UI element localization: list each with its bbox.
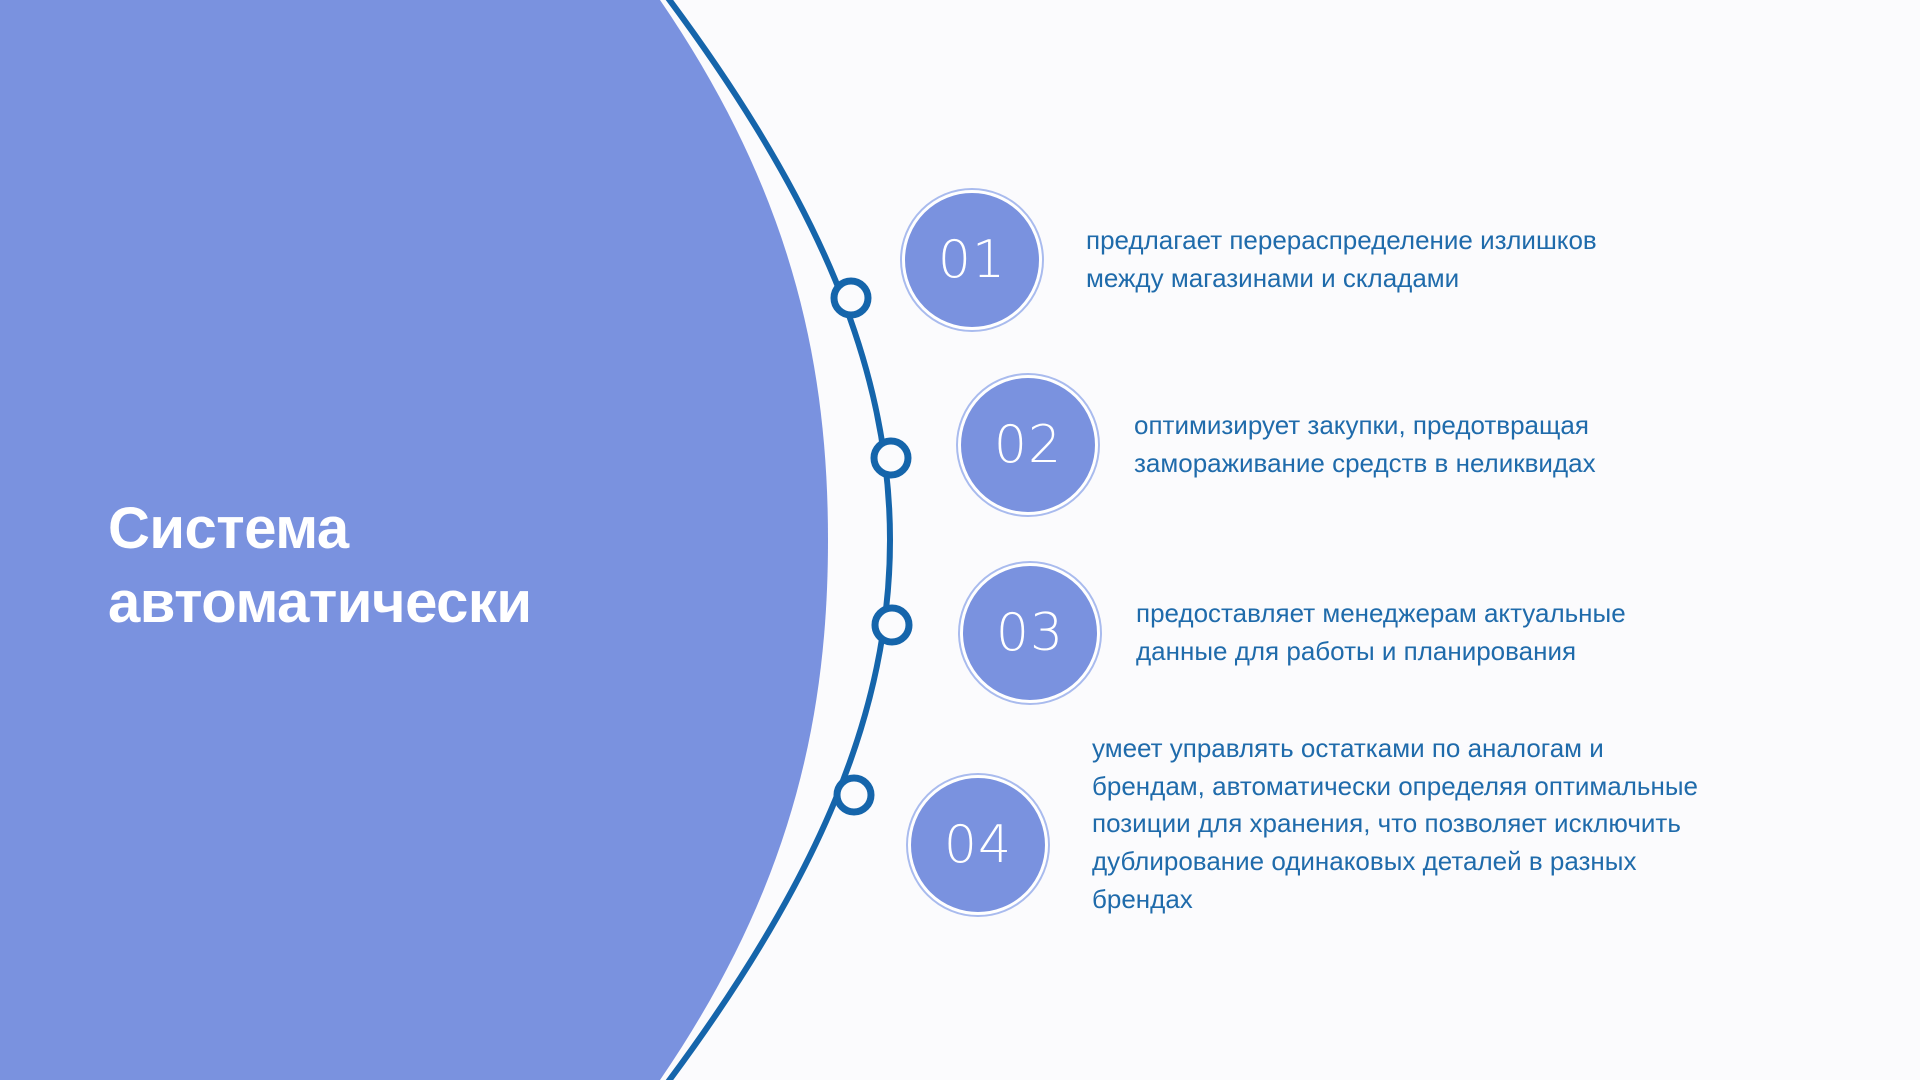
step-badge-03: 03	[960, 563, 1100, 703]
step-description: оптимизирует закупки, предотвращая замор…	[1134, 407, 1734, 482]
step-description: предоставляет менеджерам актуальные данн…	[1136, 595, 1736, 670]
step-number-label: 03	[996, 603, 1064, 663]
step-badge-01: 01	[902, 190, 1042, 330]
step-description: умеет управлять остатками по аналогам и …	[1092, 730, 1832, 918]
feature-list: 01 предлагает перераспределение излишков…	[0, 0, 1920, 1080]
step-number-label: 04	[944, 815, 1012, 875]
list-item: 03 предоставляет менеджерам актуальные д…	[960, 563, 1736, 703]
step-badge-04: 04	[908, 775, 1048, 915]
slide-canvas: Система автоматически 01 предлагает пере…	[0, 0, 1920, 1080]
step-number-label: 01	[938, 230, 1006, 290]
step-description: предлагает перераспределение излишков ме…	[1086, 222, 1736, 297]
step-badge-02: 02	[958, 375, 1098, 515]
step-number-label: 02	[994, 415, 1062, 475]
list-item: 01 предлагает перераспределение излишков…	[902, 190, 1736, 330]
list-item: 04 умеет управлять остатками по аналогам…	[908, 730, 1832, 918]
list-item: 02 оптимизирует закупки, предотвращая за…	[958, 375, 1734, 515]
